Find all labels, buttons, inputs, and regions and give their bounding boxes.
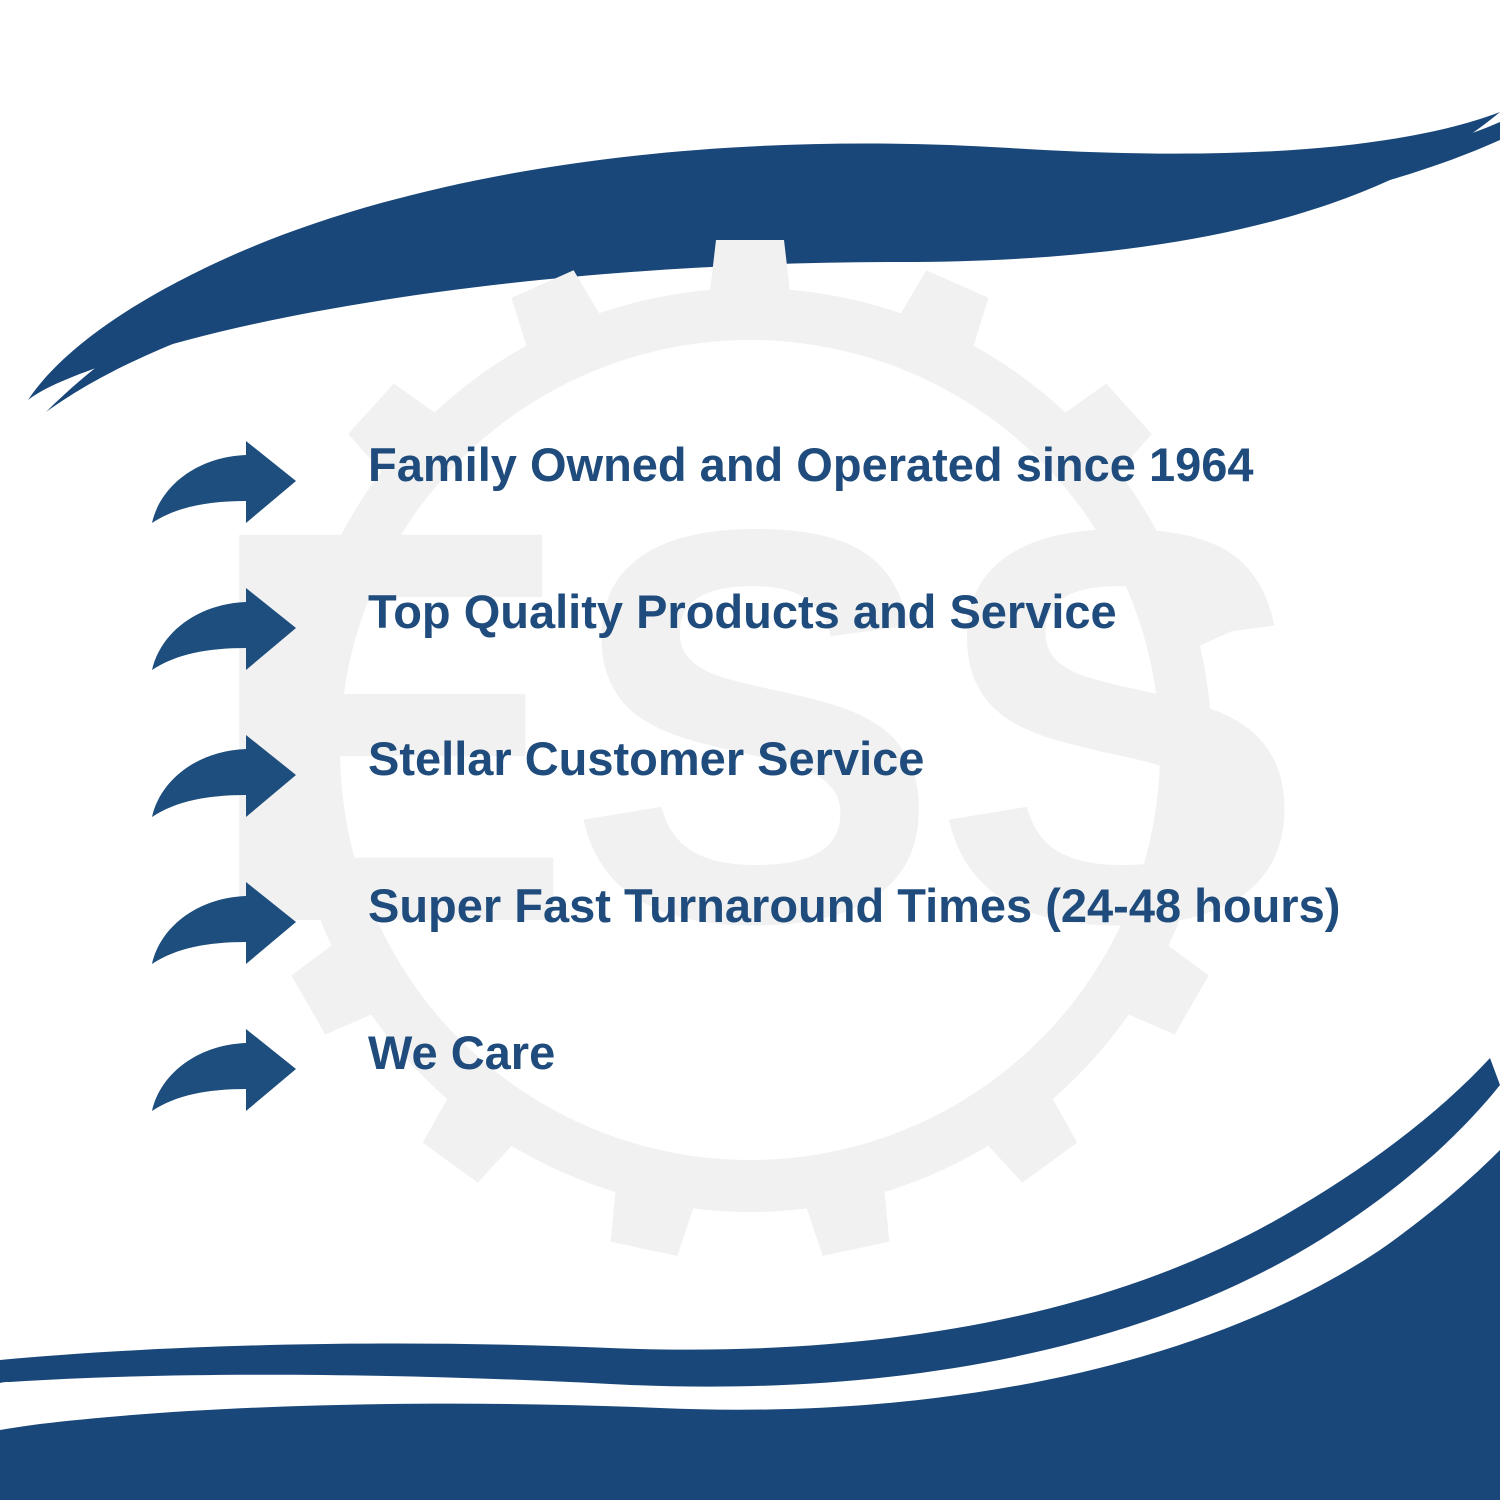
benefit-label: We Care <box>368 1025 1450 1081</box>
list-item: We Care <box>150 1025 1450 1172</box>
curved-arrow-right-icon <box>150 882 298 966</box>
bottom-wave-shape <box>0 1150 1500 1500</box>
benefit-label: Family Owned and Operated since 1964 <box>368 437 1450 493</box>
list-item: Stellar Customer Service <box>150 731 1450 878</box>
curved-arrow-right-icon <box>150 441 298 525</box>
benefits-list: Family Owned and Operated since 1964 Top… <box>150 437 1450 1172</box>
page-title: WHY SHOP WITH US <box>0 18 1500 112</box>
benefit-label: Super Fast Turnaround Times (24-48 hours… <box>368 878 1450 934</box>
benefit-label: Stellar Customer Service <box>368 731 1450 787</box>
benefit-label: Top Quality Products and Service <box>368 584 1450 640</box>
list-item: Super Fast Turnaround Times (24-48 hours… <box>150 878 1450 1025</box>
curved-arrow-right-icon <box>150 588 298 672</box>
curved-arrow-right-icon <box>150 1029 298 1113</box>
promo-graphic: ESS WHY SHOP WITH US Family Owned and Op… <box>0 0 1500 1500</box>
curved-arrow-right-icon <box>150 735 298 819</box>
list-item: Family Owned and Operated since 1964 <box>150 437 1450 584</box>
list-item: Top Quality Products and Service <box>150 584 1450 731</box>
